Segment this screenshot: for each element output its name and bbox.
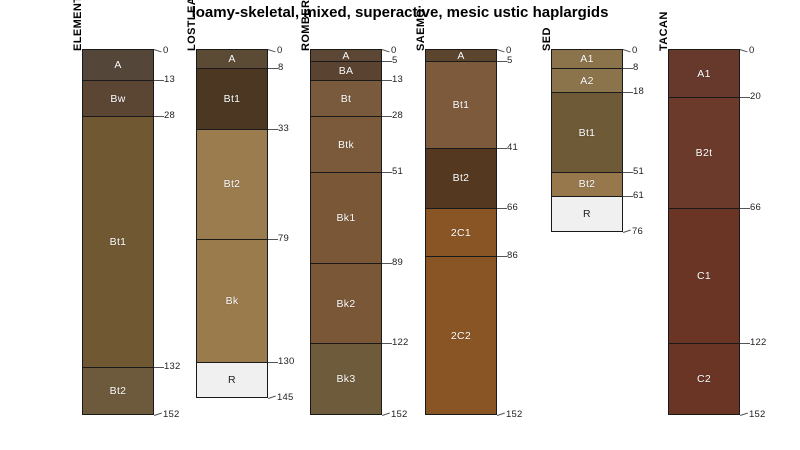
horizon-a1[interactable]: A1 bbox=[668, 49, 740, 97]
depth-leader-line bbox=[740, 343, 750, 344]
depth-tick-label: 66 bbox=[750, 202, 761, 213]
horizon-label: C1 bbox=[697, 270, 711, 282]
horizon-label: A1 bbox=[697, 68, 710, 80]
depth-tick-label: 20 bbox=[750, 91, 761, 102]
profile-tacan: TACANA1B2tC1C202066122152 bbox=[0, 0, 800, 450]
soil-profile-plot: loamy-skeletal, mixed, superactive, mesi… bbox=[0, 0, 800, 450]
profile-name-label: TACAN bbox=[658, 11, 670, 51]
depth-leader-line bbox=[740, 208, 750, 209]
horizon-label: C2 bbox=[697, 373, 711, 385]
depth-tick-label: 0 bbox=[749, 45, 754, 56]
depth-tick-label: 122 bbox=[750, 337, 766, 348]
horizon-c1[interactable]: C1 bbox=[668, 208, 740, 343]
horizon-b2t[interactable]: B2t bbox=[668, 97, 740, 208]
depth-leader-line bbox=[740, 49, 748, 52]
depth-tick-label: 152 bbox=[749, 409, 765, 420]
horizon-c2[interactable]: C2 bbox=[668, 343, 740, 415]
depth-leader-line bbox=[740, 97, 750, 98]
horizon-label: B2t bbox=[696, 147, 713, 159]
depth-leader-line bbox=[740, 413, 748, 416]
